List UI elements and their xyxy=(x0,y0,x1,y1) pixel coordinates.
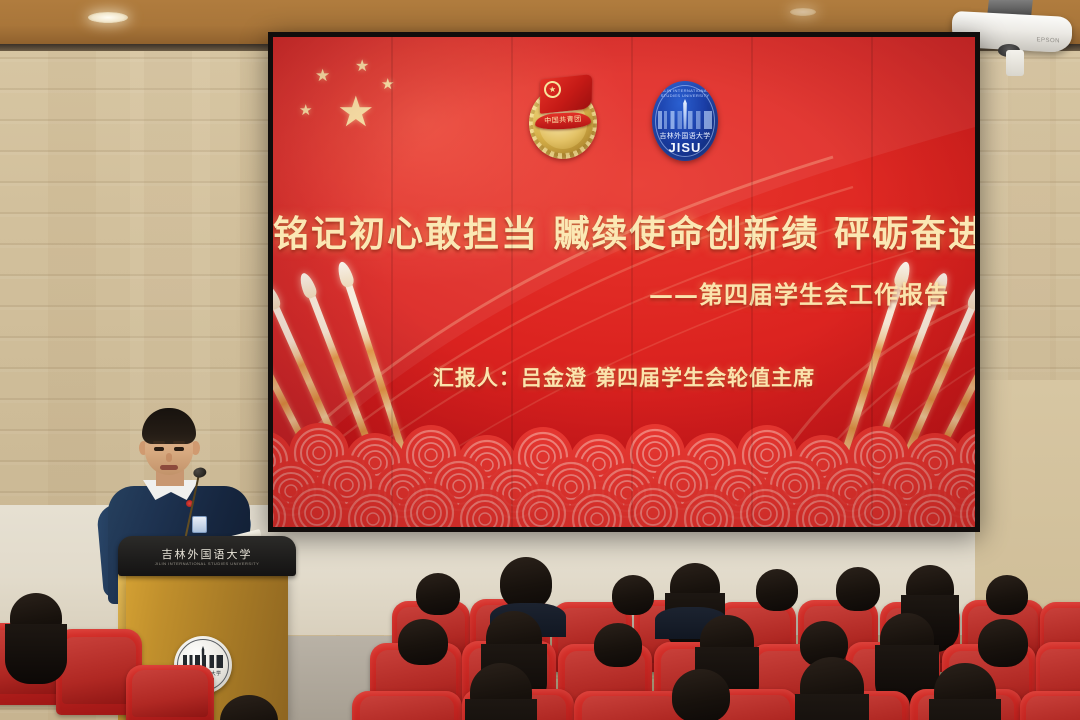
communist-youth-league-emblem: ★ 中国共青团 xyxy=(524,75,602,163)
audience-head xyxy=(398,619,448,665)
audience-head xyxy=(756,569,798,611)
jisu-skyline-icon xyxy=(658,111,712,129)
jisu-university-emblem: JILIN INTERNATIONAL STUDIES UNIVERSITY 吉… xyxy=(646,75,724,163)
cyl-band-label: 中国共青团 xyxy=(535,114,591,127)
audience-head xyxy=(978,619,1028,667)
speaker-eye xyxy=(154,447,164,451)
jisu-oval: JILIN INTERNATIONAL STUDIES UNIVERSITY 吉… xyxy=(652,81,718,161)
projector-brand-label: EPSON xyxy=(1036,37,1060,44)
audience-area xyxy=(0,545,1080,720)
speaker-eye xyxy=(174,447,184,451)
audience-head xyxy=(670,563,720,611)
slide-title: 铭记初心敢担当 贓续使命创新绩 砰砺奋进新征程 xyxy=(273,205,975,257)
audience-head xyxy=(416,573,460,615)
speaker-eyebrow xyxy=(173,441,185,444)
audience-head xyxy=(836,567,880,611)
auditorium-seat xyxy=(574,691,686,720)
audience-head xyxy=(612,575,654,615)
audience-head xyxy=(880,613,934,665)
speaker-id-badge xyxy=(192,516,207,533)
audience-head xyxy=(486,611,542,665)
jisu-abbrev-label: JISU xyxy=(652,140,718,155)
audience-head xyxy=(986,575,1028,615)
audience-head xyxy=(594,623,642,667)
speaker-hair xyxy=(142,408,196,444)
led-screen-frame: ★ ★ ★ ★ ★ xyxy=(268,32,980,532)
slide-presenter-line: 汇报人：吕金澄 第四届学生会轮值主席 xyxy=(273,362,975,392)
audience-head xyxy=(906,565,954,613)
slide-subtitle: ——第四届学生会工作报告 xyxy=(649,275,949,310)
speaker-mouth xyxy=(160,465,178,470)
audience-head xyxy=(10,593,62,643)
audience-head xyxy=(700,615,754,667)
audience-head xyxy=(934,663,996,720)
audience-head xyxy=(470,663,532,720)
auditorium-photo: Ʃ EPSON ★ ★ ★ ★ ★ xyxy=(0,0,1080,720)
audience-head xyxy=(220,695,278,720)
audience-head xyxy=(800,657,864,717)
emblem-row: ★ 中国共青团 JILIN INTERNATIONAL STUDIES UNIV… xyxy=(273,75,975,163)
audience-head xyxy=(672,669,730,720)
ceiling-light-icon xyxy=(790,8,816,16)
speaker-nose xyxy=(166,453,172,462)
speaker-eyebrow xyxy=(153,441,165,444)
led-screen: ★ ★ ★ ★ ★ xyxy=(273,37,975,527)
auditorium-seat xyxy=(126,665,214,720)
jisu-arc-label: JILIN INTERNATIONAL STUDIES UNIVERSITY xyxy=(652,88,718,98)
auditorium-seat xyxy=(352,691,462,720)
audience-head xyxy=(500,557,552,609)
auditorium-seat xyxy=(1020,691,1080,720)
ceiling-light-icon xyxy=(88,12,128,23)
projector-drop-box xyxy=(1006,50,1024,76)
